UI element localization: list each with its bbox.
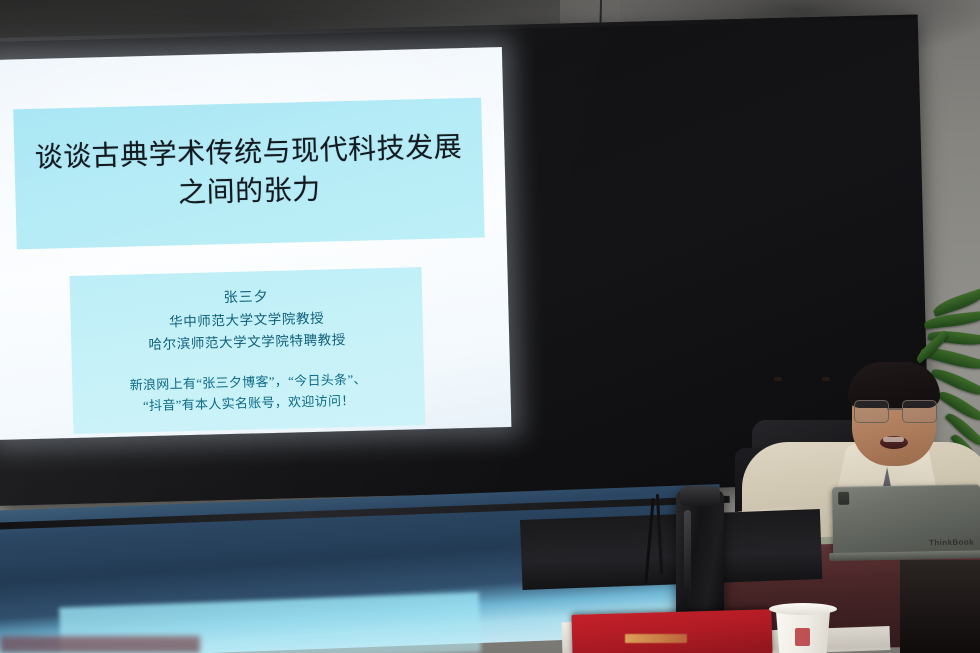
glasses-lens-right bbox=[902, 400, 937, 423]
slide-title: 谈谈古典学术传统与现代科技发展 之间的张力 bbox=[28, 129, 469, 217]
lecture-room-photo: 谈谈古典学术传统与现代科技发展 之间的张力 张三夕 华中师范大学文学院教授 哈尔… bbox=[0, 0, 980, 653]
speaker-teeth bbox=[883, 437, 904, 442]
table-dark-edge bbox=[520, 509, 822, 590]
lenovo-badge-icon bbox=[838, 492, 849, 505]
plant-frond bbox=[924, 311, 980, 329]
speaker-eye-right bbox=[822, 377, 830, 381]
social-media-note: 新浪网上有“张三夕博客”，“今日头条”、 “抖音”有本人实名账号，欢迎访问！ bbox=[129, 370, 367, 418]
speaker-affiliation-2: 哈尔滨师范大学文学院特聘教授 bbox=[148, 329, 346, 356]
eyeglasses-icon bbox=[852, 400, 938, 422]
foreground-cup-rim bbox=[769, 603, 837, 615]
thermos-highlight bbox=[684, 510, 691, 602]
projected-slide: 谈谈古典学术传统与现代科技发展 之间的张力 张三夕 华中师范大学文学院教授 哈尔… bbox=[0, 47, 511, 440]
dark-foreground-corner bbox=[900, 560, 980, 653]
foreground-blur bbox=[0, 636, 200, 653]
slide-info-box: 张三夕 华中师范大学文学院教授 哈尔滨师范大学文学院特聘教授 新浪网上有“张三夕… bbox=[69, 267, 425, 434]
red-hardcover-book bbox=[571, 609, 772, 653]
book-gold-title bbox=[625, 634, 687, 643]
thermos-cap bbox=[680, 486, 720, 506]
glasses-lens-left bbox=[854, 400, 889, 423]
glasses-bridge bbox=[887, 408, 902, 410]
foreground-cup-logo-icon bbox=[795, 628, 810, 646]
laptop[interactable]: ThinkBook bbox=[832, 484, 980, 561]
slide-title-box: 谈谈古典学术传统与现代科技发展 之间的张力 bbox=[13, 98, 484, 250]
speaker-eye-left bbox=[774, 377, 782, 381]
laptop-brand-label: ThinkBook bbox=[929, 538, 974, 548]
speaker-name: 张三夕 bbox=[223, 287, 269, 310]
laptop-lid: ThinkBook bbox=[832, 484, 980, 555]
